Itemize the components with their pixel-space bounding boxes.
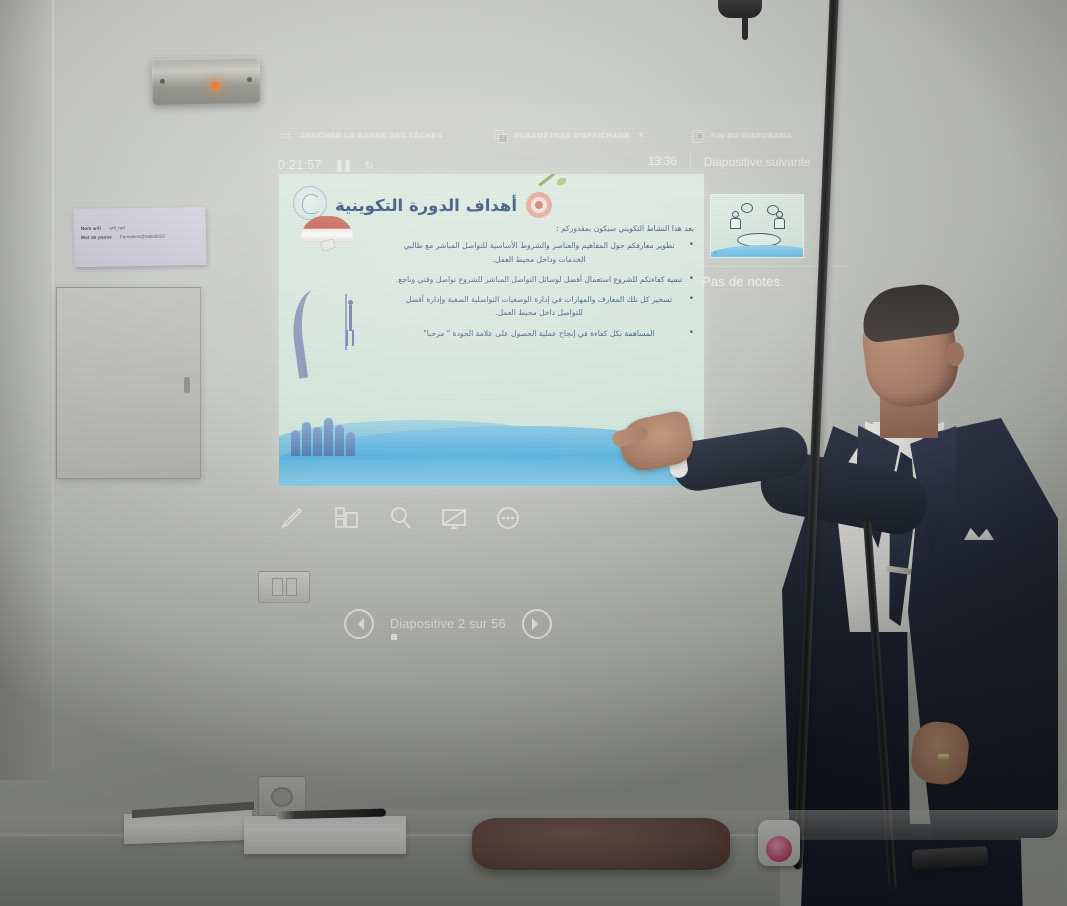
next-arrow-triangle xyxy=(532,618,544,630)
thumbnail-figure xyxy=(773,211,787,229)
slide-bullet: تطوير معارفكم حول المفاهيم والعناصر والش… xyxy=(394,239,694,266)
wifi-ssid-key: Nom wifi xyxy=(81,225,102,234)
pause-timer-button[interactable]: ❚❚ xyxy=(335,159,351,172)
presentation-remote-icon xyxy=(912,846,989,870)
pen-icon[interactable] xyxy=(278,504,306,532)
elapsed-time: 0:21:57 xyxy=(278,158,322,172)
wall-corner-shadow xyxy=(0,0,56,780)
display-settings-button[interactable]: PARAMÈTRES D'AFFICHAGE ▾ xyxy=(494,129,643,142)
header-divider xyxy=(690,154,691,169)
emergency-light-icon xyxy=(152,57,261,105)
wifi-note-password-row: Mot de passe Formation@radel2023 xyxy=(81,232,199,243)
ceiling-cable-plug xyxy=(718,0,762,18)
show-taskbar-button[interactable]: AFFICHER LA BARRE DES TÂCHES xyxy=(280,129,442,142)
light-screw-right xyxy=(247,77,252,82)
target-ring-inner xyxy=(535,201,543,209)
previous-slide-arrow-icon[interactable] xyxy=(344,609,374,639)
curved-path-graphic xyxy=(287,287,345,379)
emergency-light-led xyxy=(211,82,219,90)
paper-stack xyxy=(124,810,252,844)
figure-body xyxy=(774,218,785,229)
slide-title-row: أهداف الدورة التكوينية xyxy=(335,184,690,226)
crowd-figure xyxy=(335,425,344,456)
presenter-ear xyxy=(946,342,964,366)
slide-title: أهداف الدورة التكوينية xyxy=(335,196,517,215)
wifi-password-value: Formation@radel2023 xyxy=(120,232,165,241)
dart-shaft xyxy=(538,174,558,186)
presenter-wedding-ring xyxy=(938,754,949,760)
show-taskbar-label: AFFICHER LA BARRE DES TÂCHES xyxy=(300,131,442,140)
crowd-figure xyxy=(324,418,333,456)
figure-body xyxy=(730,218,741,229)
wall-clock-time: 13:36 xyxy=(648,156,677,168)
more-options-icon[interactable] xyxy=(494,504,522,532)
room-photo-scene: Nom wifi wifi_rad Mot de passe Formation… xyxy=(0,0,1067,906)
organization-logo-icon xyxy=(293,186,327,220)
previous-arrow-triangle xyxy=(352,618,364,630)
book-stack xyxy=(244,816,406,854)
next-slide-thumbnail[interactable]: 3 xyxy=(710,194,804,258)
presenter-view-toolbar: AFFICHER LA BARRE DES TÂCHES PARAMÈTRES … xyxy=(280,118,790,152)
wifi-ssid-value: wifi_rad xyxy=(109,224,125,233)
dart-fletching xyxy=(557,178,566,185)
all-slides-grid-icon[interactable] xyxy=(332,504,360,532)
crowd-figure xyxy=(291,430,300,456)
crowd-figure xyxy=(346,432,355,456)
slide-counter: Diapositive 2 sur 56 xyxy=(390,617,506,631)
figure-body xyxy=(349,305,352,331)
end-show-icon xyxy=(691,129,704,142)
crowd-figure xyxy=(302,422,311,456)
figure-head xyxy=(732,211,739,218)
thumbnail-page-number: 3 xyxy=(714,250,716,255)
display-settings-label: PARAMÈTRES D'AFFICHAGE xyxy=(514,131,630,140)
display-settings-icon xyxy=(494,129,507,142)
flag-person-graphic xyxy=(345,300,355,348)
figure-head xyxy=(776,211,783,218)
figure-legs xyxy=(346,330,354,346)
slideshow-tools-toolbar xyxy=(270,496,520,540)
next-slide-header: Diapositive suivante xyxy=(704,155,811,169)
restart-timer-button[interactable]: ↻ xyxy=(364,159,374,172)
wall-seam xyxy=(52,0,54,770)
round-speaker-icon xyxy=(758,820,800,866)
leather-cushion xyxy=(472,818,730,870)
blank-screen-icon[interactable] xyxy=(440,504,468,532)
wifi-password-key: Mot de passe xyxy=(81,233,112,242)
slide-navigation: Diapositive 2 sur 56 xyxy=(344,599,604,649)
target-with-dart-icon xyxy=(524,190,554,220)
end-show-label: FIN DU DIAPORAMA xyxy=(711,131,792,140)
ceiling-cable-stub xyxy=(742,16,748,40)
zoom-magnifier-icon[interactable] xyxy=(386,504,414,532)
crowd-figure xyxy=(313,427,322,456)
chevron-down-icon: ▾ xyxy=(639,131,643,139)
balloon-canopy xyxy=(301,216,353,242)
slide-intro-line: بعد هذا النشاط التكويني سيكون بمقدوركم : xyxy=(394,222,694,235)
thumbnail-figure xyxy=(729,211,743,229)
hot-air-balloon-icon xyxy=(301,216,353,256)
end-show-button[interactable]: FIN DU DIAPORAMA xyxy=(691,129,792,142)
group-of-people-graphic xyxy=(291,406,365,456)
taskbar-icon xyxy=(280,129,293,142)
thumbnail-wave xyxy=(710,245,804,258)
next-slide-arrow-icon[interactable] xyxy=(522,609,552,639)
wifi-credentials-note: Nom wifi wifi_rad Mot de passe Formation… xyxy=(74,207,207,267)
wall-access-panel xyxy=(56,287,201,479)
light-screw-left xyxy=(160,79,165,84)
clock-and-next-header: 13:36 Diapositive suivante xyxy=(648,154,811,169)
